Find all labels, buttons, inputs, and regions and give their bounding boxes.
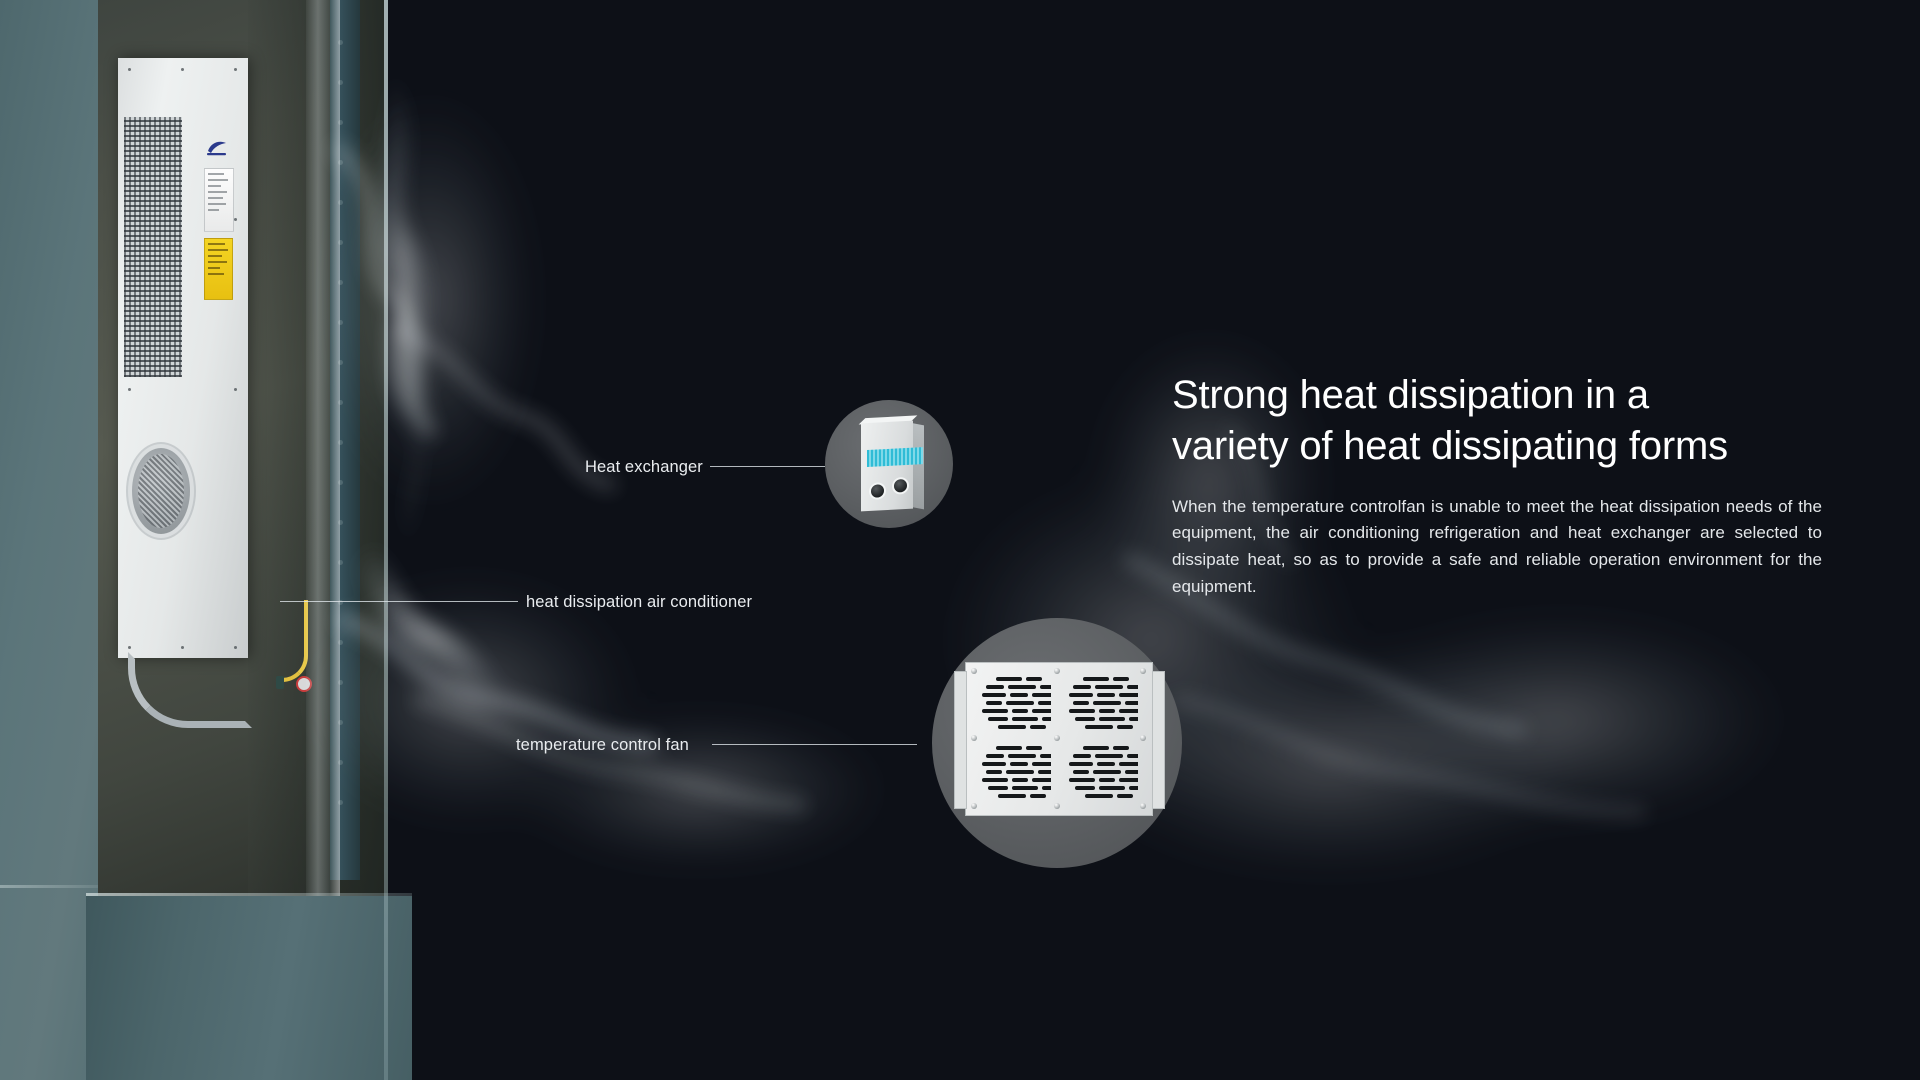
page-title: Strong heat dissipation in a variety of … [1172,370,1822,472]
fan-vent-quadrant [980,675,1051,735]
copy-block: Strong heat dissipation in a variety of … [1172,370,1822,601]
heat-exchanger-unit-graphic [861,421,913,512]
leader-line-temperature-control-fan [712,744,917,745]
leader-line-air-conditioner [280,601,518,602]
yellow-warning-sticker [204,238,233,300]
body-paragraph: When the temperature controlfan is unabl… [1172,494,1822,601]
cabinet-base-plinth [86,896,412,1080]
callout-label-heat-exchanger: Heat exchanger [585,458,703,477]
product-circle-heat-exchanger[interactable] [825,400,953,528]
cabinet-air-conditioner-unit [118,58,248,658]
cabinet-right-edge [384,0,388,1080]
interior-knob [276,676,284,689]
air-conditioner-vent-grille [124,117,182,377]
callout-label-air-conditioner: heat dissipation air conditioner [526,593,752,612]
leader-line-heat-exchanger [710,466,825,467]
fan-vent-quadrant [1067,675,1138,735]
heat-exchanger-vent-band [867,447,923,467]
slide-canvas: Heat exchanger heat dissipation air cond… [0,0,1920,1080]
vented-fan-panel-graphic [965,662,1153,816]
headline-line-1: Strong heat dissipation in a [1172,373,1649,417]
fan-vent-quadrant [980,744,1051,804]
fan-vent-quadrant [1067,744,1138,804]
yellow-cable [282,600,308,682]
product-circle-temperature-control-fan[interactable] [932,618,1182,868]
spec-label-sticker [204,168,234,232]
manufacturer-logo-icon [204,138,230,158]
circular-fan-vent [132,448,190,534]
callout-label-temperature-control-fan: temperature control fan [516,736,689,755]
equipment-cabinet-photo [0,0,412,1080]
cabinet-glass-door [306,0,340,900]
headline-line-2: variety of heat dissipating forms [1172,424,1728,468]
